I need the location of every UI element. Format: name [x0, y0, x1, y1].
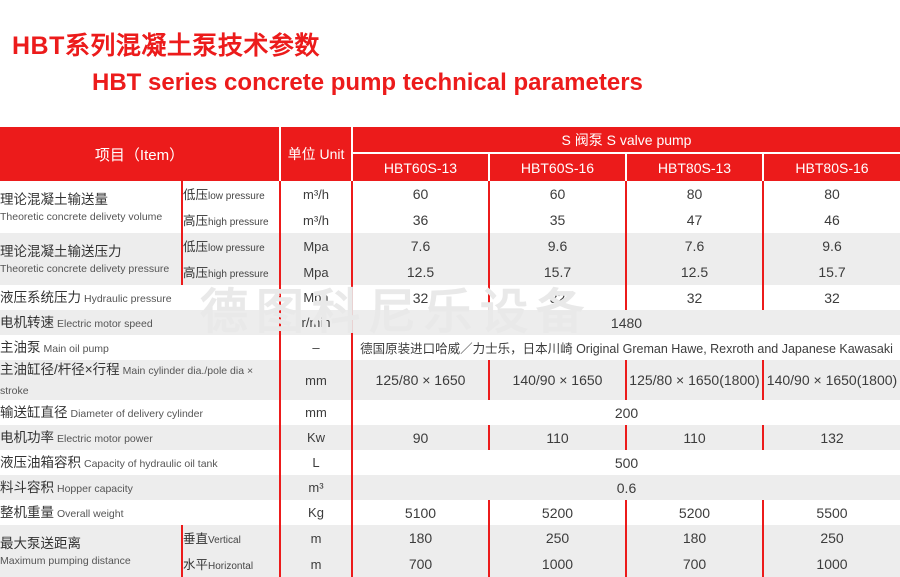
spec-table: 项目（Item） 单位 Unit S 阀泵 S valve pump HBT60…: [0, 127, 900, 577]
unit-cell: Mpa: [280, 285, 352, 310]
item-label-en: Hopper capacity: [57, 483, 133, 495]
value-cell-merged: 德国原装进口哈威／力士乐，日本川崎 Original Greman Hawe, …: [352, 335, 900, 360]
sub-label-zh: 低压: [183, 188, 208, 202]
value-cell: 250: [763, 525, 900, 551]
value-cell-merged: 200: [352, 400, 900, 425]
unit-cell: r/min: [280, 310, 352, 335]
value-cell: 80: [626, 181, 763, 207]
sub-label-cell: 水平Horizontal: [182, 551, 280, 577]
header-model-1: HBT60S-13: [352, 153, 489, 181]
table-row: 理论混凝土输送量Theoretic concrete delivety volu…: [0, 181, 900, 207]
value-cell: 15.7: [489, 259, 626, 285]
value-cell: 1000: [489, 551, 626, 577]
item-cell: 输送缸直径Diameter of delivery cylinder: [0, 400, 280, 425]
value-cell: 35: [489, 207, 626, 233]
spec-table-wrapper: 项目（Item） 单位 Unit S 阀泵 S valve pump HBT60…: [0, 127, 900, 577]
table-row: 料斗容积Hopper capacitym³0.6: [0, 475, 900, 500]
item-label-en: Diameter of delivery cylinder: [71, 408, 203, 420]
unit-cell: Kw: [280, 425, 352, 450]
value-cell: 7.6: [352, 233, 489, 259]
header-model-4: HBT80S-16: [763, 153, 900, 181]
sub-label-en: low pressure: [208, 243, 265, 254]
value-cell: 110: [489, 425, 626, 450]
unit-cell: L: [280, 450, 352, 475]
value-cell: 12.5: [626, 259, 763, 285]
table-row: 电机转速Electric motor speedr/min1480: [0, 310, 900, 335]
sub-label-cell: 高压high pressure: [182, 207, 280, 233]
item-label-zh: 最大泵送距离: [0, 536, 81, 551]
item-label-en: Capacity of hydraulic oil tank: [84, 458, 218, 470]
unit-cell: m: [280, 525, 352, 551]
header-group-s-valve-pump: S 阀泵 S valve pump: [352, 127, 900, 153]
value-cell: 15.7: [763, 259, 900, 285]
value-cell: 140/90 × 1650: [489, 360, 626, 400]
value-cell: 180: [352, 525, 489, 551]
table-row: 液压系统压力Hydraulic pressureMpa32323232: [0, 285, 900, 310]
value-cell: 110: [626, 425, 763, 450]
value-cell: 46: [763, 207, 900, 233]
value-cell: 7.6: [626, 233, 763, 259]
item-cell: 理论混凝土输送压力Theoretic concrete delivety pre…: [0, 233, 182, 285]
table-row: 理论混凝土输送压力Theoretic concrete delivety pre…: [0, 233, 900, 259]
unit-cell: m³/h: [280, 207, 352, 233]
sub-label-zh: 水平: [183, 558, 208, 572]
item-label-en: Theoretic concrete delivety volume: [0, 211, 181, 224]
item-label-zh: 理论混凝土输送量: [0, 192, 108, 207]
spec-sheet-page: HBT系列混凝土泵技术参数 HBT series concrete pump t…: [0, 0, 900, 577]
value-cell: 47: [626, 207, 763, 233]
value-cell: 12.5: [352, 259, 489, 285]
value-cell-merged: 500: [352, 450, 900, 475]
unit-cell: m³: [280, 475, 352, 500]
value-cell: 5200: [626, 500, 763, 525]
sub-label-cell: 低压low pressure: [182, 181, 280, 207]
table-header: 项目（Item） 单位 Unit S 阀泵 S valve pump HBT60…: [0, 127, 900, 181]
sub-label-cell: 高压high pressure: [182, 259, 280, 285]
value-cell: 250: [489, 525, 626, 551]
item-cell: 最大泵送距离Maximum pumping distance: [0, 525, 182, 577]
item-cell: 电机功率Electric motor power: [0, 425, 280, 450]
sub-label-en: Horizontal: [208, 561, 253, 572]
value-cell: 700: [626, 551, 763, 577]
item-label-zh: 液压油箱容积: [0, 455, 81, 470]
value-cell: 9.6: [489, 233, 626, 259]
page-title-zh: HBT系列混凝土泵技术参数: [12, 26, 320, 62]
item-label-en: Electric motor speed: [57, 318, 153, 330]
header-model-2: HBT60S-16: [489, 153, 626, 181]
item-label-zh: 电机转速: [0, 315, 54, 330]
sub-label-zh: 高压: [183, 266, 208, 280]
item-label-zh: 主油缸径/杆径×行程: [0, 362, 120, 377]
item-label-en: Overall weight: [57, 508, 124, 520]
item-cell: 液压系统压力Hydraulic pressure: [0, 285, 280, 310]
value-cell: 5500: [763, 500, 900, 525]
item-label-zh: 整机重量: [0, 505, 54, 520]
item-label-zh: 主油泵: [0, 340, 41, 355]
unit-cell: mm: [280, 360, 352, 400]
item-cell: 料斗容积Hopper capacity: [0, 475, 280, 500]
header-item: 项目（Item）: [0, 127, 280, 181]
header-unit: 单位 Unit: [280, 127, 352, 181]
value-cell: 1000: [763, 551, 900, 577]
value-cell: 9.6: [763, 233, 900, 259]
value-cell: 32: [489, 285, 626, 310]
value-cell: 36: [352, 207, 489, 233]
table-row: 主油缸径/杆径×行程Main cylinder dia./pole dia × …: [0, 360, 900, 400]
sub-label-en: Vertical: [208, 535, 241, 546]
value-cell: 32: [626, 285, 763, 310]
item-cell: 液压油箱容积Capacity of hydraulic oil tank: [0, 450, 280, 475]
value-cell: 60: [352, 181, 489, 207]
value-cell: 5100: [352, 500, 489, 525]
item-label-en: Theoretic concrete delivety pressure: [0, 263, 181, 276]
item-label-en: Hydraulic pressure: [84, 293, 172, 305]
value-cell: 132: [763, 425, 900, 450]
value-cell: 125/80 × 1650(1800): [626, 360, 763, 400]
item-label-en: Maximum pumping distance: [0, 555, 181, 568]
item-label-en: Electric motor power: [57, 433, 153, 445]
value-cell: 90: [352, 425, 489, 450]
value-cell: 125/80 × 1650: [352, 360, 489, 400]
unit-cell: Mpa: [280, 233, 352, 259]
table-row: 输送缸直径Diameter of delivery cylindermm200: [0, 400, 900, 425]
header-model-3: HBT80S-13: [626, 153, 763, 181]
table-row: 最大泵送距离Maximum pumping distance垂直Vertical…: [0, 525, 900, 551]
item-cell: 主油泵Main oil pump: [0, 335, 280, 360]
value-cell: 180: [626, 525, 763, 551]
value-cell: 140/90 × 1650(1800): [763, 360, 900, 400]
item-label-zh: 液压系统压力: [0, 290, 81, 305]
item-label-zh: 输送缸直径: [0, 405, 68, 420]
table-row: 整机重量Overall weightKg5100520052005500: [0, 500, 900, 525]
unit-cell: Kg: [280, 500, 352, 525]
value-cell: 700: [352, 551, 489, 577]
table-row: 电机功率Electric motor powerKw90110110132: [0, 425, 900, 450]
item-label-zh: 理论混凝土输送压力: [0, 244, 122, 259]
item-cell: 整机重量Overall weight: [0, 500, 280, 525]
value-cell: 32: [763, 285, 900, 310]
table-row: 主油泵Main oil pump–德国原装进口哈威／力士乐，日本川崎 Origi…: [0, 335, 900, 360]
item-cell: 主油缸径/杆径×行程Main cylinder dia./pole dia × …: [0, 360, 280, 400]
unit-cell: Mpa: [280, 259, 352, 285]
unit-cell: mm: [280, 400, 352, 425]
value-cell-merged: 0.6: [352, 475, 900, 500]
sub-label-cell: 垂直Vertical: [182, 525, 280, 551]
sub-label-en: high pressure: [208, 217, 269, 228]
item-cell: 理论混凝土输送量Theoretic concrete delivety volu…: [0, 181, 182, 233]
sub-label-zh: 垂直: [183, 532, 208, 546]
unit-cell: m: [280, 551, 352, 577]
value-cell-merged: 1480: [352, 310, 900, 335]
item-label-zh: 料斗容积: [0, 480, 54, 495]
value-cell: 80: [763, 181, 900, 207]
sub-label-zh: 低压: [183, 240, 208, 254]
page-title-en: HBT series concrete pump technical param…: [92, 69, 643, 97]
sub-label-en: high pressure: [208, 269, 269, 280]
value-cell: 60: [489, 181, 626, 207]
sub-label-en: low pressure: [208, 191, 265, 202]
sub-label-cell: 低压low pressure: [182, 233, 280, 259]
sub-label-zh: 高压: [183, 214, 208, 228]
unit-cell: m³/h: [280, 181, 352, 207]
item-cell: 电机转速Electric motor speed: [0, 310, 280, 335]
value-cell: 32: [352, 285, 489, 310]
unit-cell: –: [280, 335, 352, 360]
item-label-zh: 电机功率: [0, 430, 54, 445]
value-cell: 5200: [489, 500, 626, 525]
item-label-en: Main oil pump: [44, 343, 109, 355]
table-row: 液压油箱容积Capacity of hydraulic oil tankL500: [0, 450, 900, 475]
table-body: 理论混凝土输送量Theoretic concrete delivety volu…: [0, 181, 900, 577]
